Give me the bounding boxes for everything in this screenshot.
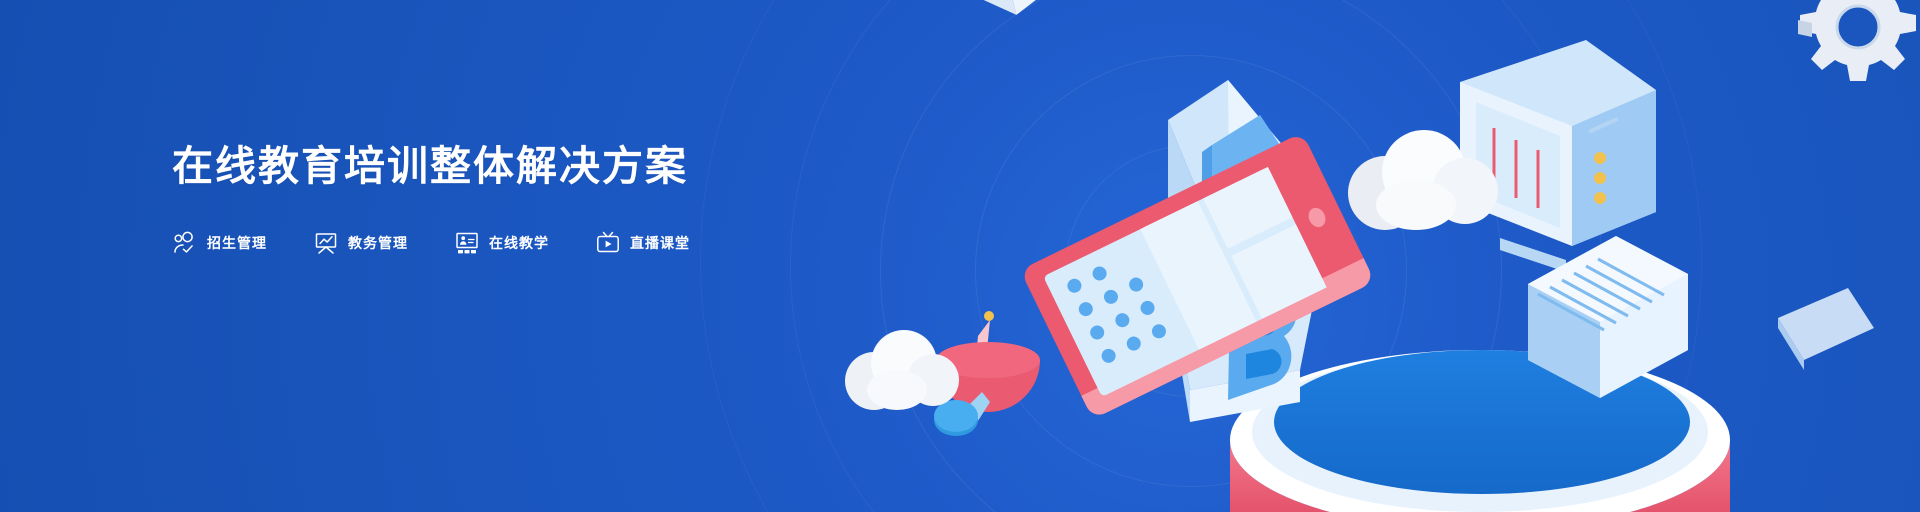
feature-item-enrollment[interactable]: 招生管理 — [172, 230, 267, 256]
circular-platform — [1230, 350, 1730, 512]
banner-content: 在线教育培训整体解决方案 招生管理 — [172, 144, 872, 256]
open-book — [937, 0, 1252, 33]
cloud-left — [845, 330, 975, 410]
feature-label-enrollment: 招生管理 — [207, 233, 267, 253]
feature-list: 招生管理 教务管理 — [172, 230, 872, 256]
presentation-chart-icon — [313, 230, 339, 256]
feature-label-online-teaching: 在线教学 — [489, 233, 549, 253]
classroom-teaching-icon — [454, 230, 480, 256]
feature-item-live-classroom[interactable]: 直播课堂 — [595, 230, 690, 256]
education-banner: 在线教育培训整体解决方案 招生管理 — [0, 0, 1920, 512]
paper-scrap — [1778, 288, 1874, 370]
cloud-right — [1348, 130, 1513, 230]
user-check-icon — [172, 230, 198, 256]
feature-label-academic-affairs: 教务管理 — [348, 233, 408, 253]
feature-label-live-classroom: 直播课堂 — [630, 233, 690, 253]
online-education-illustration — [760, 0, 1920, 512]
gear-icon — [1798, 0, 1916, 81]
banner-headline: 在线教育培训整体解决方案 — [172, 144, 872, 190]
feature-item-academic-affairs[interactable]: 教务管理 — [313, 230, 408, 256]
feature-item-online-teaching[interactable]: 在线教学 — [454, 230, 549, 256]
live-broadcast-icon — [595, 230, 621, 256]
